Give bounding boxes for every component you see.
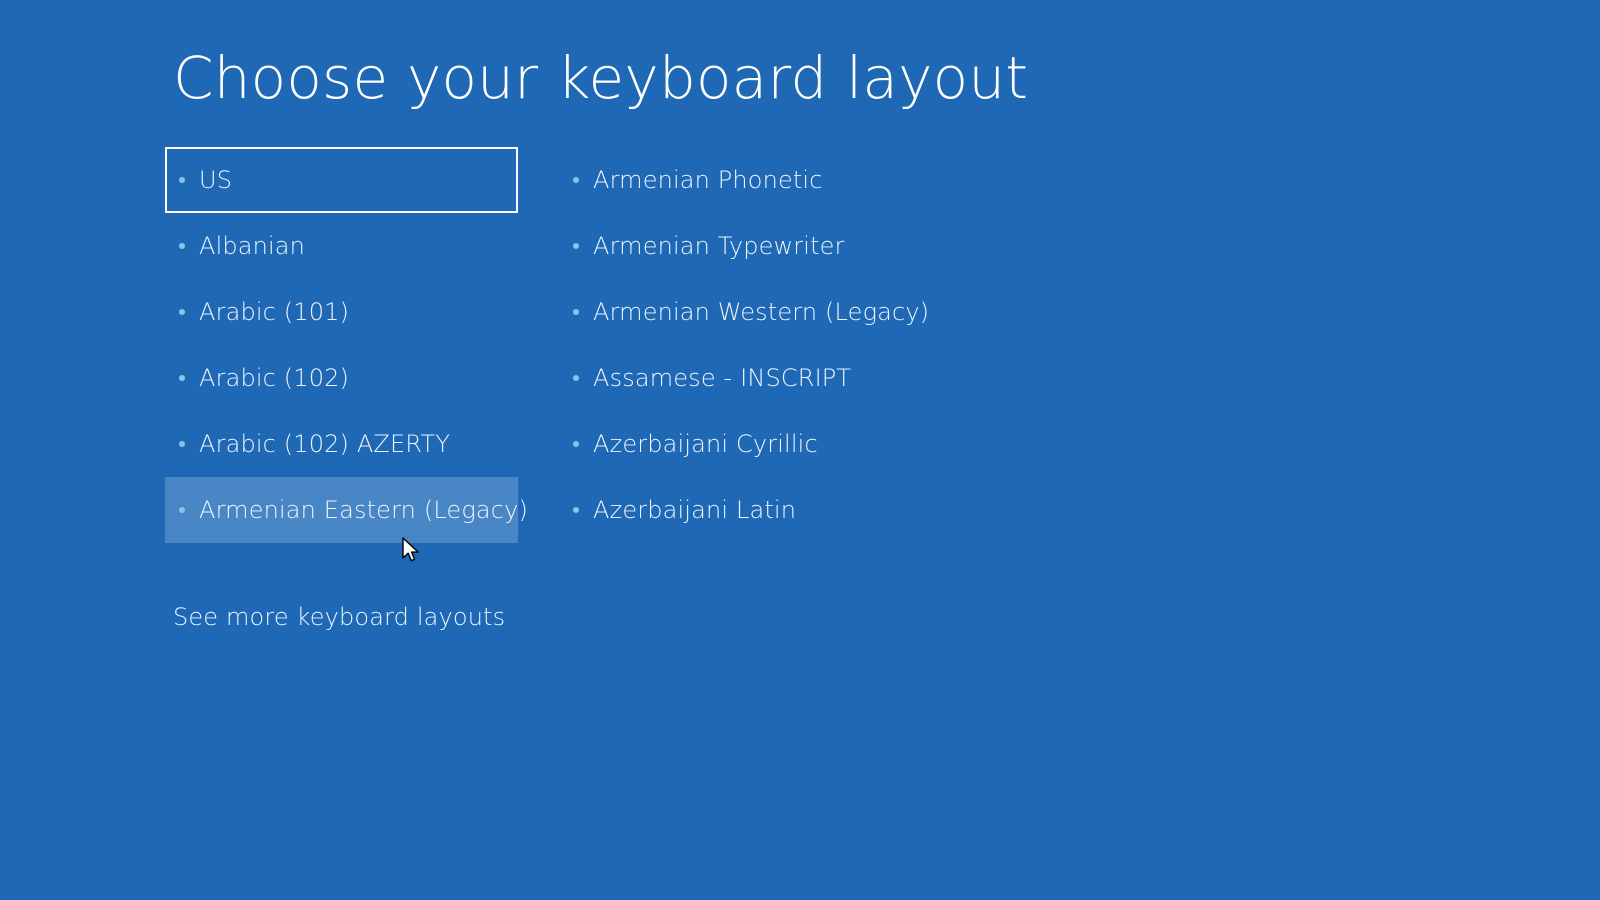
keyboard-layout-item[interactable]: Armenian Western (Legacy) bbox=[559, 279, 979, 345]
keyboard-layout-item-label: Armenian Eastern (Legacy) bbox=[199, 495, 528, 525]
keyboard-layout-item-label: Arabic (101) bbox=[199, 297, 349, 327]
keyboard-layout-item[interactable]: Arabic (102) AZERTY bbox=[165, 411, 518, 477]
keyboard-layout-item-label: Armenian Phonetic bbox=[593, 165, 823, 195]
bullet-dot-icon bbox=[179, 507, 185, 513]
keyboard-layout-item-label: Armenian Typewriter bbox=[593, 231, 845, 261]
keyboard-layout-item-label: Arabic (102) bbox=[199, 363, 349, 393]
page-title: Choose your keyboard layout bbox=[173, 42, 1028, 114]
bullet-dot-icon bbox=[573, 441, 579, 447]
keyboard-layout-item[interactable]: US bbox=[165, 147, 518, 213]
bullet-dot-icon bbox=[179, 441, 185, 447]
keyboard-layout-item[interactable]: Arabic (102) bbox=[165, 345, 518, 411]
keyboard-layout-item[interactable]: Assamese - INSCRIPT bbox=[559, 345, 979, 411]
keyboard-layout-item[interactable]: Armenian Typewriter bbox=[559, 213, 979, 279]
keyboard-layout-column-right: Armenian PhoneticArmenian TypewriterArme… bbox=[559, 147, 979, 543]
bullet-dot-icon bbox=[179, 243, 185, 249]
keyboard-layout-item-label: Arabic (102) AZERTY bbox=[199, 429, 450, 459]
bullet-dot-icon bbox=[573, 309, 579, 315]
keyboard-layout-screen: Choose your keyboard layout USAlbanianAr… bbox=[0, 0, 1600, 900]
keyboard-layout-item[interactable]: Armenian Eastern (Legacy) bbox=[165, 477, 518, 543]
keyboard-layout-item-label: Azerbaijani Cyrillic bbox=[593, 429, 818, 459]
keyboard-layout-item[interactable]: Azerbaijani Latin bbox=[559, 477, 979, 543]
keyboard-layout-item-label: Azerbaijani Latin bbox=[593, 495, 796, 525]
keyboard-layout-item[interactable]: Azerbaijani Cyrillic bbox=[559, 411, 979, 477]
bullet-dot-icon bbox=[573, 243, 579, 249]
bullet-dot-icon bbox=[573, 507, 579, 513]
bullet-dot-icon bbox=[179, 375, 185, 381]
keyboard-layout-item[interactable]: Albanian bbox=[165, 213, 518, 279]
bullet-dot-icon bbox=[179, 309, 185, 315]
keyboard-layout-item-label: Armenian Western (Legacy) bbox=[593, 297, 929, 327]
bullet-dot-icon bbox=[573, 375, 579, 381]
see-more-keyboard-layouts-link[interactable]: See more keyboard layouts bbox=[173, 600, 505, 634]
bullet-dot-icon bbox=[573, 177, 579, 183]
keyboard-layout-item-label: US bbox=[199, 165, 232, 195]
keyboard-layout-item[interactable]: Arabic (101) bbox=[165, 279, 518, 345]
keyboard-layout-item-label: Albanian bbox=[199, 231, 305, 261]
keyboard-layout-item-label: Assamese - INSCRIPT bbox=[593, 363, 851, 393]
keyboard-layout-item[interactable]: Armenian Phonetic bbox=[559, 147, 979, 213]
keyboard-layout-list: USAlbanianArabic (101)Arabic (102)Arabic… bbox=[0, 147, 1600, 747]
bullet-dot-icon bbox=[179, 177, 185, 183]
keyboard-layout-column-left: USAlbanianArabic (101)Arabic (102)Arabic… bbox=[165, 147, 518, 543]
